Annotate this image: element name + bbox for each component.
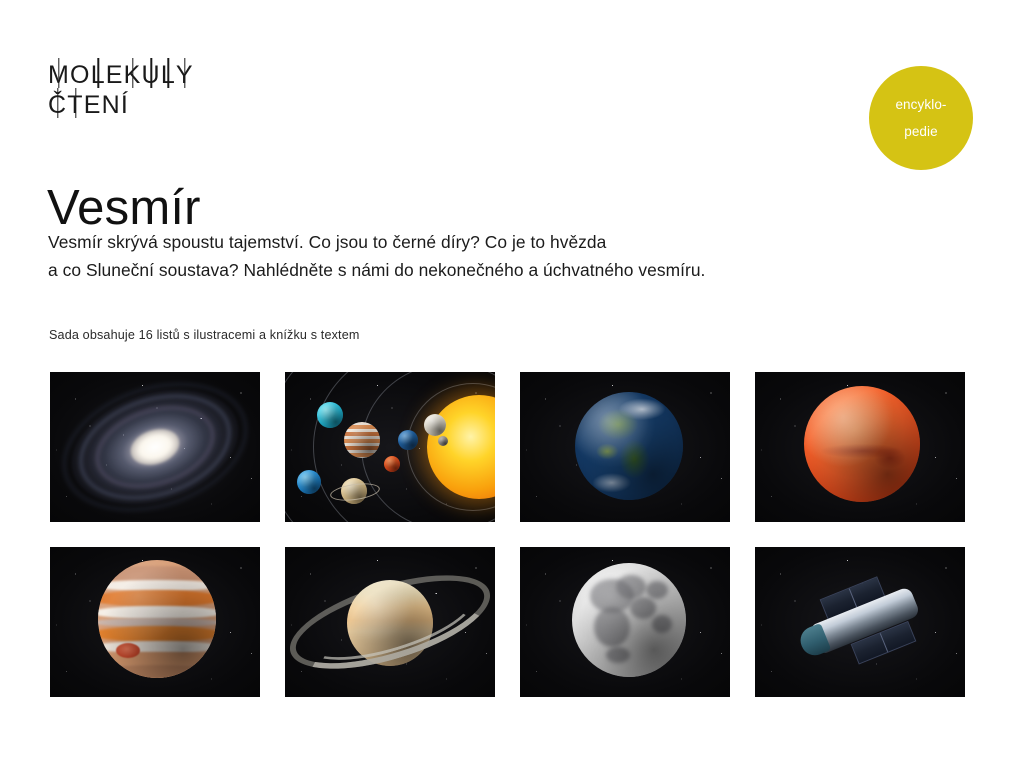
- planet-neptune: [297, 470, 321, 494]
- product-page: MOLEKULY ČTENÍ encyklo- pedie Vesmír Ves…: [0, 0, 1024, 768]
- gallery-item-jupiter[interactable]: [50, 547, 260, 697]
- gallery-item-moon[interactable]: [520, 547, 730, 697]
- hubble-scene: [755, 547, 965, 697]
- page-title: Vesmír: [47, 183, 201, 234]
- planet-mercury: [438, 436, 448, 446]
- jupiter-scene: [50, 547, 260, 697]
- planet-mars: [384, 456, 400, 472]
- saturn-scene: [285, 547, 495, 697]
- gallery-item-mars[interactable]: [755, 372, 965, 522]
- galaxy-scene: [50, 372, 260, 522]
- planet-jupiter: [98, 560, 216, 678]
- moon-scene: [520, 547, 730, 697]
- illustration-gallery: [50, 372, 970, 697]
- gallery-item-earth[interactable]: [520, 372, 730, 522]
- category-badge-line-2: pedie: [904, 118, 938, 145]
- planet-jupiter: [344, 422, 380, 458]
- description-line-1: Vesmír skrývá spoustu tajemství. Co jsou…: [48, 228, 908, 256]
- gallery-item-solar-system[interactable]: [285, 372, 495, 522]
- planet-uranus: [317, 402, 343, 428]
- earth-scene: [520, 372, 730, 522]
- planet-venus: [424, 414, 446, 436]
- solar-system-scene: [285, 372, 495, 522]
- category-badge-line-1: encyklo-: [895, 91, 946, 118]
- description-line-2: a co Sluneční soustava? Nahlédněte s nám…: [48, 256, 908, 284]
- set-contents-note: Sada obsahuje 16 listů s ilustracemi a k…: [49, 328, 360, 342]
- mars-scene: [755, 372, 965, 522]
- brand-logo: MOLEKULY ČTENÍ: [48, 63, 194, 118]
- brand-logo-line-2: ČTENÍ: [48, 93, 194, 118]
- brand-logo-line-1: MOLEKULY: [48, 63, 194, 88]
- gallery-item-saturn[interactable]: [285, 547, 495, 697]
- product-description: Vesmír skrývá spoustu tajemství. Co jsou…: [48, 228, 908, 284]
- planet-mars: [804, 386, 920, 502]
- gallery-item-galaxy[interactable]: [50, 372, 260, 522]
- planet-earth: [575, 392, 683, 500]
- gallery-item-hubble-telescope[interactable]: [755, 547, 965, 697]
- category-badge: encyklo- pedie: [869, 66, 973, 170]
- moon: [572, 563, 686, 677]
- planet-earth: [398, 430, 418, 450]
